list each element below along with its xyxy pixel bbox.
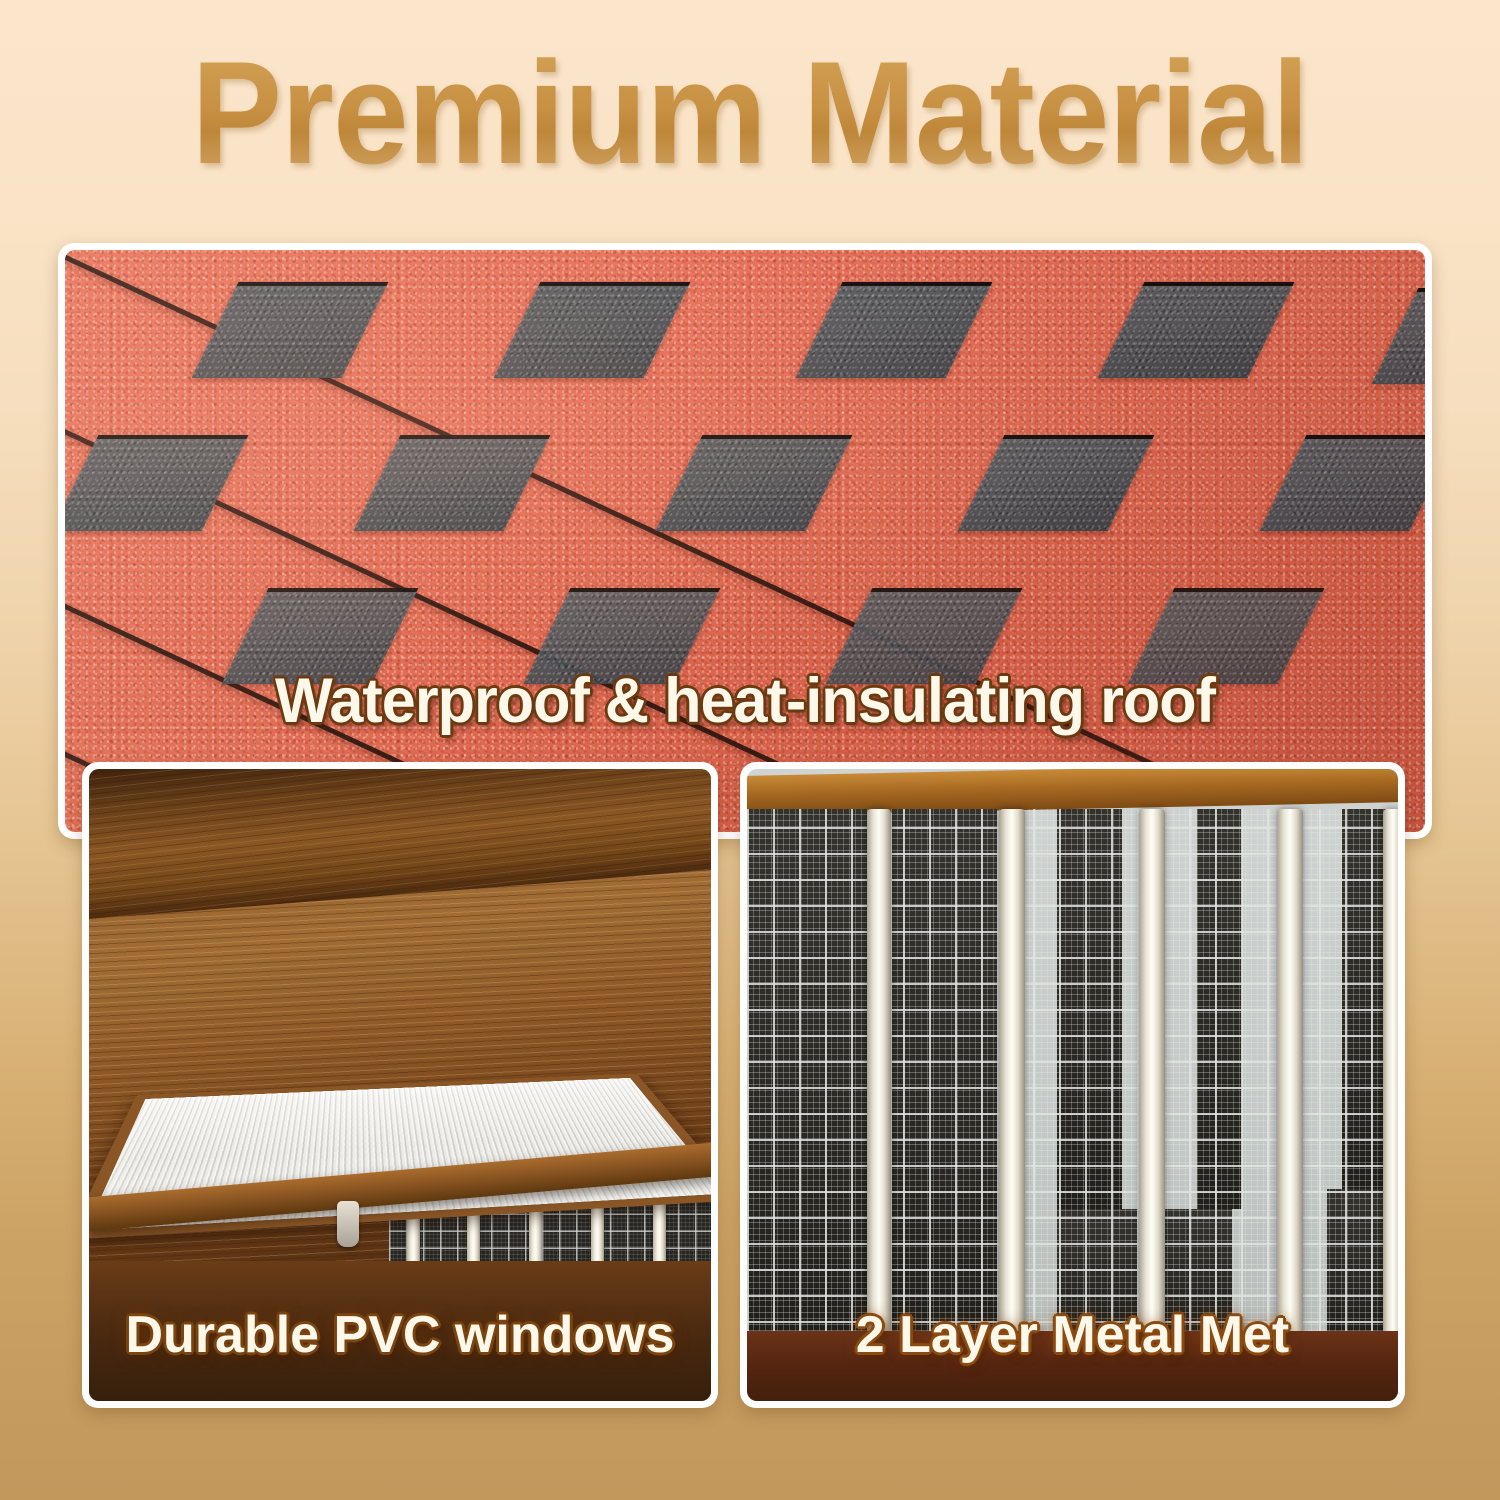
feature-card-roof[interactable]: Waterproof & heat-insulating roof [58,243,1432,839]
product-feature-poster: Premium Material [0,0,1500,1500]
mesh-vertical-bar [1139,809,1165,1354]
metal-mesh-image: 2 Layer Metal Met [747,769,1398,1401]
mesh-vertical-bar [1277,809,1303,1357]
pvc-window-image: Durable PVC windows [89,769,711,1401]
mesh-vertical-bar [999,809,1025,1349]
feature-card-metal-mesh[interactable]: 2 Layer Metal Met [740,762,1405,1408]
feature-card-pvc-windows[interactable]: Durable PVC windows [82,762,718,1408]
mesh-vertical-bar [1383,809,1398,1357]
pvc-caption: Durable PVC windows [89,1305,711,1365]
coop-latch-hook [337,1201,359,1247]
page-title: Premium Material [53,38,1448,188]
roof-image: Waterproof & heat-insulating roof [65,250,1425,832]
roof-lighting-overlay [65,250,1425,832]
roof-caption: Waterproof & heat-insulating roof [85,665,1404,737]
mesh-caption: 2 Layer Metal Met [747,1305,1398,1365]
mesh-vertical-bar [867,809,891,1349]
